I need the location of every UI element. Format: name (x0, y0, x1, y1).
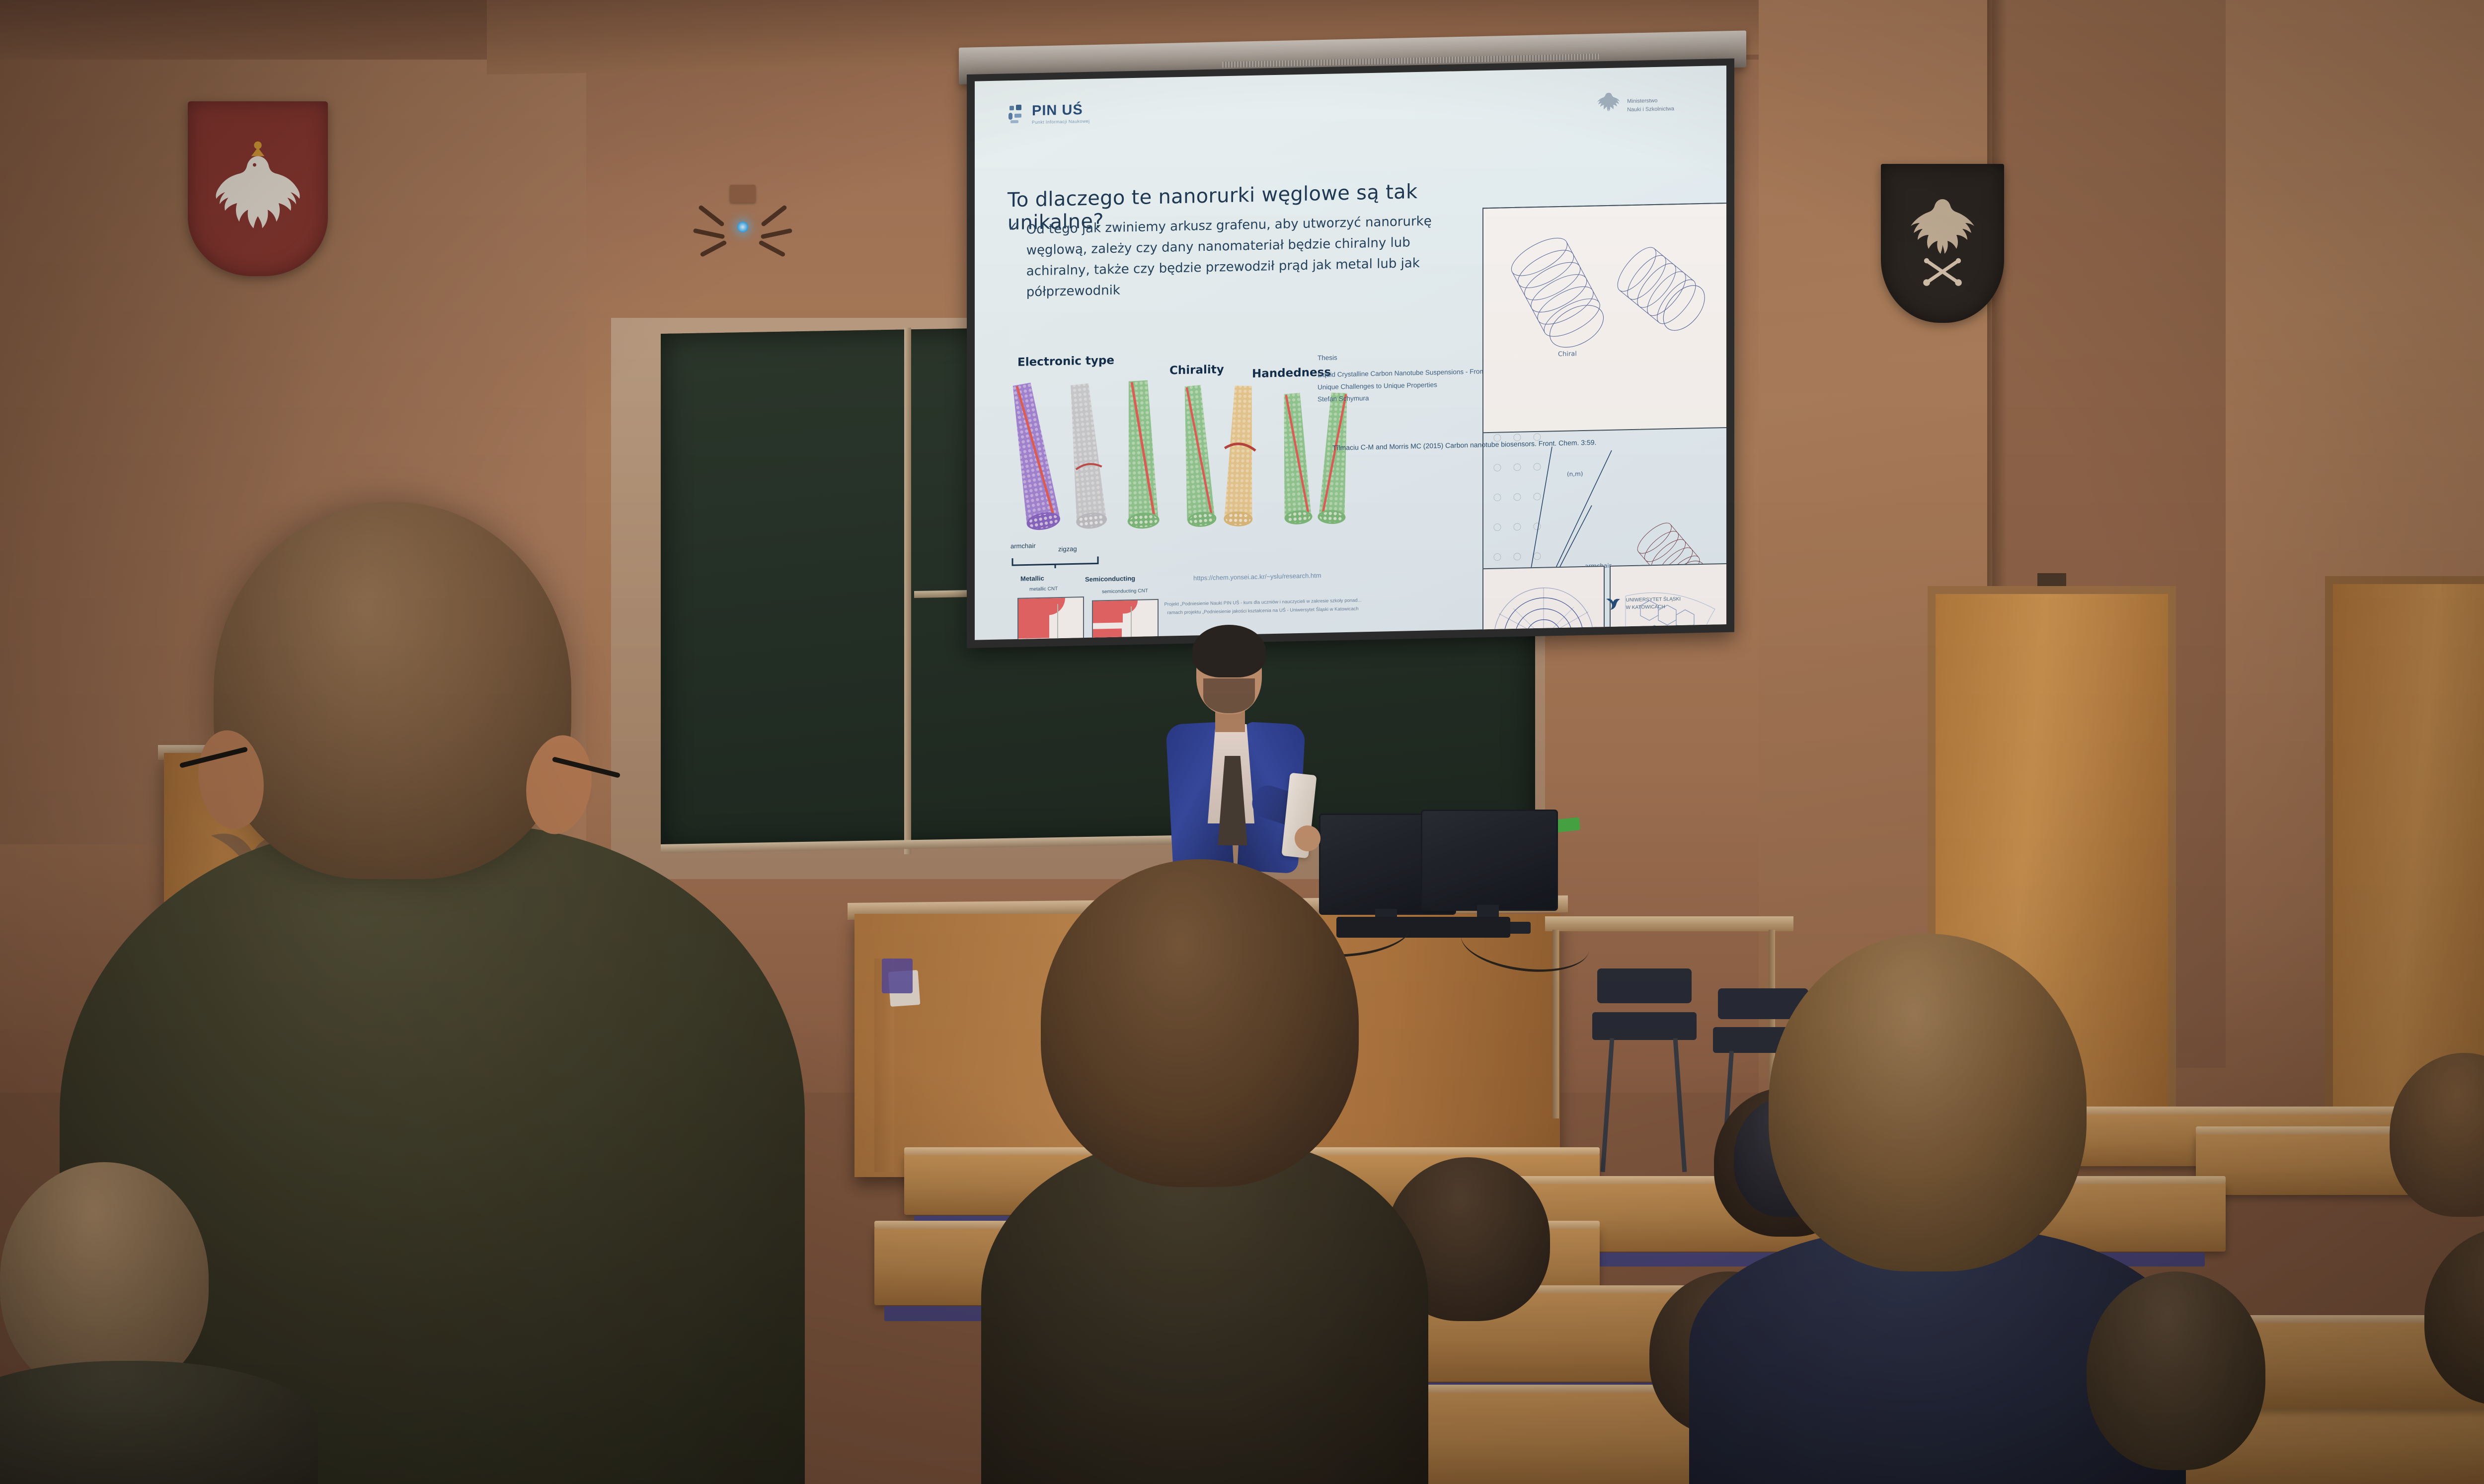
door-sign (2037, 573, 2066, 586)
caption-chiral: (n,m) (1567, 470, 1583, 478)
label-semiconducting: Semiconducting (1085, 575, 1135, 583)
monitor-screen (1421, 810, 1558, 911)
gornicze-godlo-emblem (1881, 164, 2004, 323)
dos-left-title: metallic CNT (1029, 586, 1058, 592)
godlo-polski-emblem (188, 101, 328, 276)
metallic-bracket (1010, 554, 1100, 569)
university-footer-logo: UNIWERSYTET ŚLĄSKI W KATOWICACH (1605, 595, 1681, 612)
beard (1203, 678, 1255, 713)
sensor-ray (761, 228, 792, 239)
label-zigzag: zigzag (1058, 545, 1077, 553)
dos-right-title: semiconducting CNT (1102, 588, 1148, 594)
foreground-person-2-torso (981, 1137, 1428, 1484)
us-logo-icon (1605, 596, 1622, 612)
foreground-person-2-head (1041, 859, 1359, 1187)
sensor-body (730, 185, 756, 203)
presentation-slide: PIN UŚ Punkt Informacji Naukowej Ministe… (975, 66, 1726, 640)
slide-bullet: ✓ Od tego jak zwiniemy arkusz grafenu, a… (1008, 211, 1445, 303)
label-metallic: Metallic (1020, 575, 1044, 583)
pin-logo-subtitle: Punkt Informacji Naukowej (1032, 119, 1090, 125)
label-armchair: armchair (1010, 542, 1036, 550)
cnt-hex-ring-a (1483, 567, 1604, 640)
chair-left[interactable] (1587, 968, 1707, 1177)
slide-bullet-text: Od tego jak zwiniemy arkusz grafenu, aby… (1026, 211, 1445, 303)
cnt-cross-section-a (1482, 566, 1605, 640)
hand (1295, 825, 1320, 851)
sensor-ray (761, 205, 787, 227)
sensor-ray (699, 240, 727, 257)
foreground-person-5-head (2087, 1271, 2265, 1470)
pin-logo-mark (1008, 104, 1027, 125)
side-table-top (1545, 916, 1793, 931)
slide-footer-note: Projekt „Podniesienie Nauki PIN UŚ - kur… (1089, 594, 1437, 619)
lecture-hall-photo: PIN UŚ Punkt Informacji Naukowej Ministe… (0, 0, 2484, 1484)
us-footer-sub: W KATOWICACH (1626, 603, 1681, 611)
ministry-line-2: Nauki i Szkolnictwa (1627, 105, 1674, 114)
motion-sensor (693, 185, 792, 264)
cnt-3d-renders: Chiral (1483, 204, 1726, 432)
foreground-person-1-head (214, 502, 571, 879)
chalkboard-divider (904, 328, 911, 854)
ministry-eagle-icon (1594, 88, 1622, 124)
door-right[interactable] (2325, 576, 2484, 1117)
svg-text:Chiral: Chiral (1558, 350, 1577, 358)
label-electronic-type: Electronic type (1017, 354, 1114, 369)
nanotube-illustrations (1009, 371, 1347, 542)
check-icon: ✓ (1008, 220, 1018, 303)
white-eagle-icon (203, 130, 312, 254)
sensor-ray (758, 240, 785, 257)
diagram-source-url[interactable]: https://chem.yonsei.ac.kr/~yslu/research… (1193, 572, 1321, 582)
sensor-ray (693, 228, 725, 239)
hair (1192, 625, 1266, 677)
pin-logo-text: PIN UŚ (1032, 103, 1090, 118)
ministry-logo-lines: Ministerstwo Nauki i Szkolnictwa (1627, 96, 1674, 114)
ministry-line-1: Ministerstwo (1627, 96, 1674, 106)
projection-screen: PIN UŚ Punkt Informacji Naukowej Ministe… (967, 59, 1734, 648)
desk-sticker (882, 959, 913, 993)
ministry-logo: Ministerstwo Nauki i Szkolnictwa (1594, 87, 1674, 124)
mining-eagle-icon (1893, 183, 1992, 297)
thesis-block: Thesis Liquid Crystalline Carbon Nanotub… (1318, 348, 1506, 405)
foreground-person-3-head (1769, 934, 2087, 1271)
us-footer-text: UNIWERSYTET ŚLĄSKI W KATOWICACH (1626, 595, 1681, 611)
cnt-render-panel-top: Chiral (1482, 203, 1726, 434)
sensor-led (737, 222, 748, 232)
us-footer-name: UNIWERSYTET ŚLĄSKI (1626, 595, 1681, 604)
foreground-person-4-head (0, 1162, 209, 1396)
sensor-ray (698, 205, 725, 227)
pin-us-logo: PIN UŚ Punkt Informacji Naukowej (1008, 103, 1090, 125)
dos-chart-metallic (1017, 596, 1084, 640)
